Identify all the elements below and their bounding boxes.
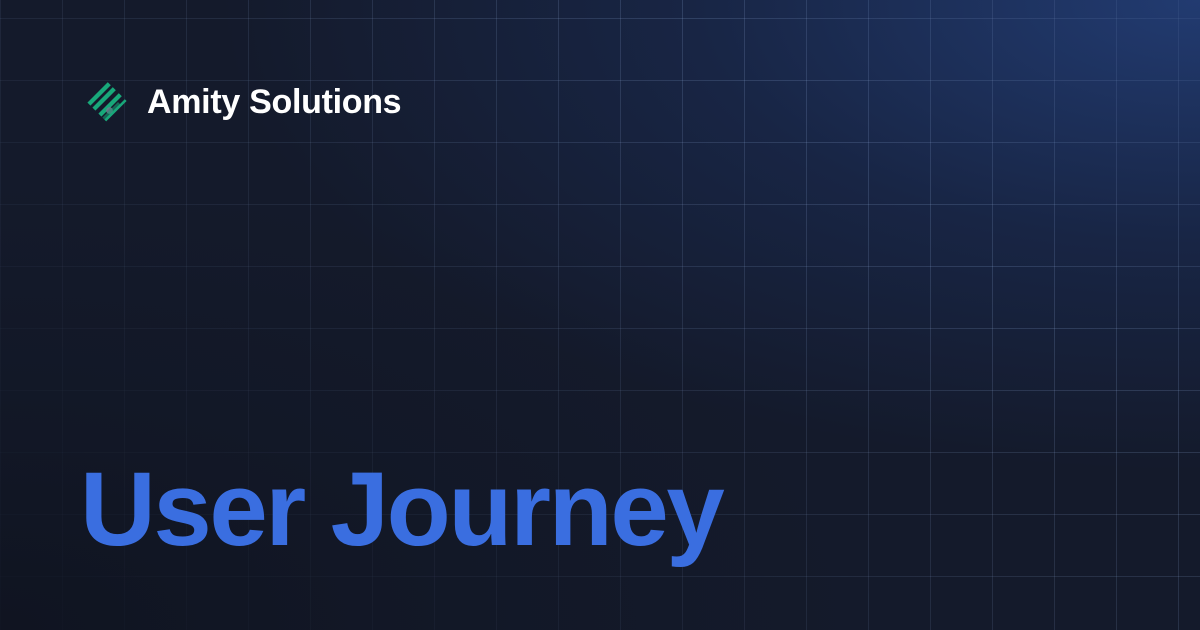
share-banner: Amity Solutions User Journey xyxy=(0,0,1200,630)
brand-name: Amity Solutions xyxy=(147,85,401,119)
brand-lockup: Amity Solutions xyxy=(84,79,401,125)
amity-striped-diamond-logo-icon xyxy=(84,79,128,125)
page-title: User Journey xyxy=(80,457,722,562)
